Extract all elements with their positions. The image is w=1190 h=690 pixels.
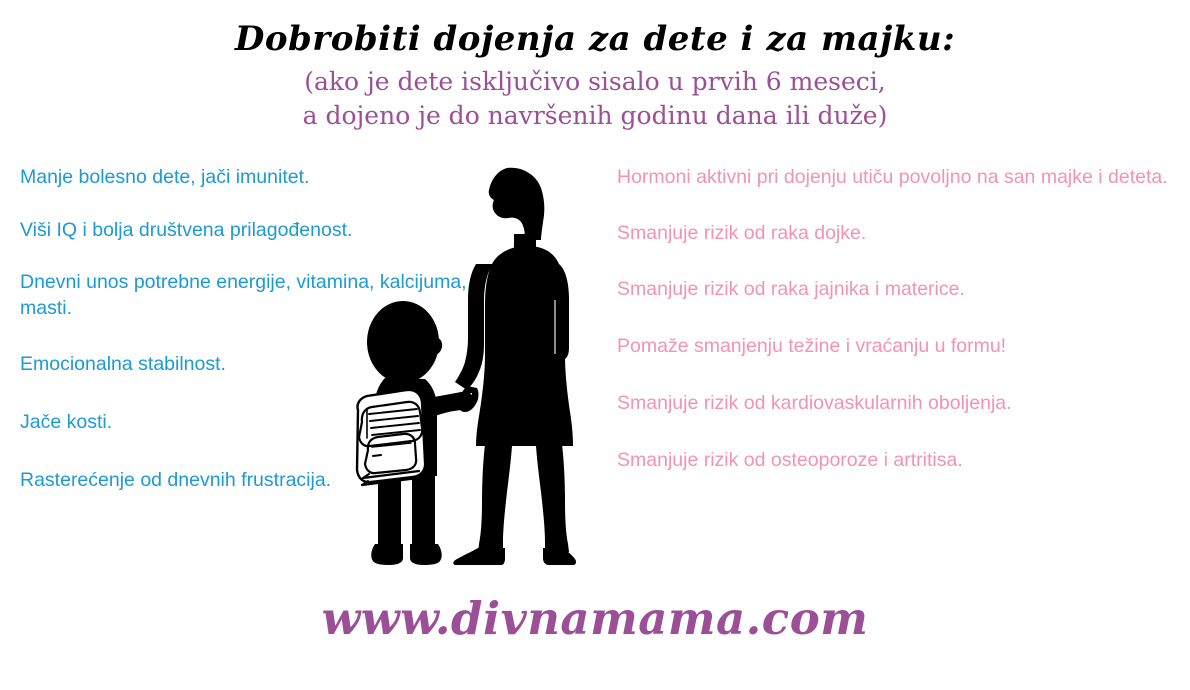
mother-benefits-column: Hormoni aktivni pri dojenju utiču povolj… xyxy=(617,165,1177,499)
benefit-item: Smanjuje rizik od osteoporoze i artritis… xyxy=(617,448,1177,474)
subtitle-line-2: a dojeno je do navršenih godinu dana ili… xyxy=(0,98,1190,133)
poster-header: Dobrobiti dojenja za dete i za majku: (a… xyxy=(0,0,1190,133)
page-title: Dobrobiti dojenja za dete i za majku: xyxy=(0,0,1190,58)
infographic-poster: Dobrobiti dojenja za dete i za majku: (a… xyxy=(0,0,1190,690)
benefit-item: Smanjuje rizik od raka dojke. xyxy=(617,221,1177,247)
subtitle-line-1: (ako je dete isključivo sisalo u prvih 6… xyxy=(0,58,1190,99)
benefit-item: Pomaže smanjenju težine i vraćanju u for… xyxy=(617,334,1177,360)
backpack-outline xyxy=(357,388,430,485)
mother-and-child-silhouette xyxy=(345,160,615,570)
benefit-item: Smanjuje rizik od raka jajnika i materic… xyxy=(617,277,1177,303)
benefit-item: Smanjuje rizik od kardiovaskularnih obol… xyxy=(617,391,1177,417)
poster-footer: www.divnamama.com xyxy=(0,592,1190,645)
benefit-item: Hormoni aktivni pri dojenju utiču povolj… xyxy=(617,165,1177,191)
mother-silhouette xyxy=(453,168,576,565)
website-url[interactable]: www.divnamama.com xyxy=(322,592,869,645)
